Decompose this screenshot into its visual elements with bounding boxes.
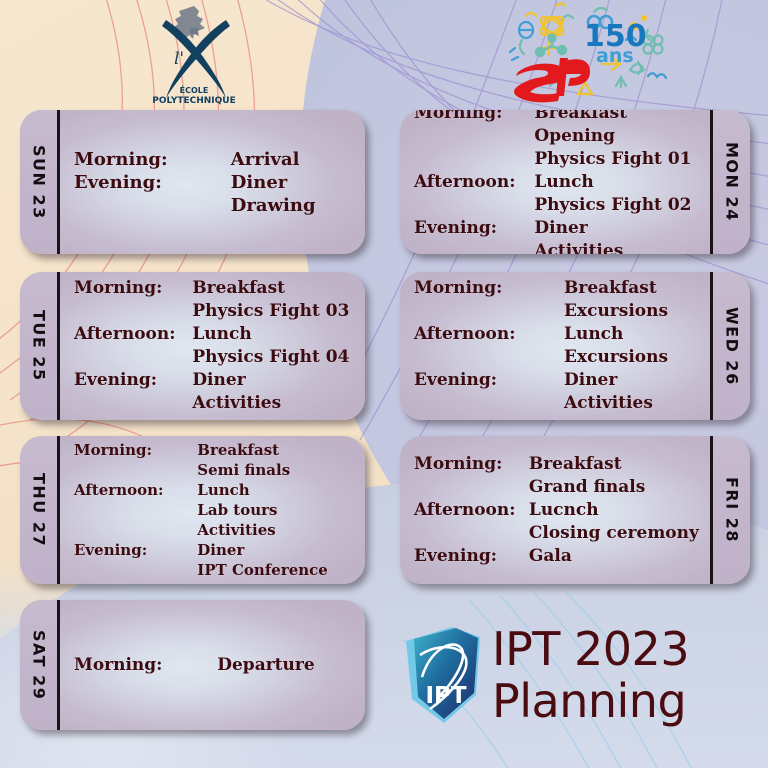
schedule-row: Morning:Breakfast [414,110,704,125]
day-card-body-fri-28: Morning:BreakfastGrand finalsAfternoon:L… [400,436,710,584]
day-card-sun-23[interactable]: SUN 23Morning:ArrivalEvening:DinerDrawin… [20,110,365,254]
day-tab-tue-25: TUE 25 [20,272,60,420]
schedule-activity-value: Lunch [197,480,359,500]
title-line-1: IPT 2023 [492,622,689,676]
schedule-row: Grand finals [414,476,704,499]
schedule-activity-value: Breakfast [529,453,704,476]
schedule-row: Physics Fight 04 [74,346,359,369]
schedule-row: Morning:Departure [74,654,359,677]
schedule-period-label [414,522,529,545]
day-card-body-sat-29: Morning:Departure [60,600,365,730]
schedule-activity-value: IPT Conference [197,560,359,580]
schedule-period-label: Morning: [414,453,529,476]
schedule-activity-value: Activities [192,392,359,415]
schedule-period-label: Afternoon: [74,323,192,346]
polytechnique-label: POLYTECHNIQUE [152,96,236,106]
schedule-row: Afternoon:Lunch [74,480,359,500]
schedule-period-label: Evening: [414,545,529,568]
schedule-row: Physics Fight 01 [414,148,704,171]
schedule-period-label: Afternoon: [414,171,534,194]
schedule-period-label [414,346,564,369]
schedule-row: Activities [414,240,704,255]
schedule-activity-value: Closing ceremony [529,522,704,545]
schedule-period-label: Morning: [414,110,534,125]
schedule-table: Morning:BreakfastGrand finalsAfternoon:L… [414,453,704,568]
schedule-activity-value: Drawing [231,194,359,217]
day-card-thu-27[interactable]: THU 27Morning:BreakfastSemi finalsAftern… [20,436,365,584]
schedule-period-label [74,194,231,217]
ipt-logo: IPT [400,625,486,725]
schedule-activity-value: Lunch [564,323,704,346]
day-tab-label: MON 24 [724,142,740,222]
schedule-period-label: Evening: [74,369,192,392]
schedule-activity-value: Excursions [564,300,704,323]
schedule-activity-value: Lucnch [529,499,704,522]
day-card-sat-29[interactable]: SAT 29Morning:Departure [20,600,365,730]
schedule-period-label [74,392,192,415]
day-card-fri-28[interactable]: FRI 28Morning:BreakfastGrand finalsAfter… [400,436,750,584]
schedule-row: Afternoon:Lunch [414,323,704,346]
schedule-row: Morning:Breakfast [414,277,704,300]
schedule-row: Afternoon:Lunch [74,323,359,346]
sfp-150-ans-logo: 150 ans [498,0,670,104]
day-tab-label: WED 26 [724,307,740,386]
schedule-table: Morning:BreakfastOpeningPhysics Fight 01… [414,110,704,254]
schedule-activity-value: Activities [564,392,704,415]
schedule-table: Morning:BreakfastExcursionsAfternoon:Lun… [414,277,704,415]
poster-title-block: IPT IPT 2023 Planning [400,600,760,750]
planning-poster: l' ÉCOLE POLYTECHNIQUE [0,0,768,768]
schedule-row: Drawing [74,194,359,217]
schedule-activity-value: Lunch [192,323,359,346]
schedule-row: Evening:Diner [74,171,359,194]
schedule-period-label [414,240,534,255]
day-card-tue-25[interactable]: TUE 25Morning:BreakfastPhysics Fight 03A… [20,272,365,420]
day-card-body-mon-24: Morning:BreakfastOpeningPhysics Fight 01… [400,110,710,254]
day-card-body-thu-27: Morning:BreakfastSemi finalsAfternoon:Lu… [60,436,365,584]
x-apostrophe-label: l' [174,49,184,69]
schedule-activity-value: Gala [529,545,704,568]
theta-doodle-icon [519,22,533,38]
schedule-table: Morning:Departure [74,654,359,677]
schedule-activity-value: Lunch [534,171,704,194]
schedule-row: Lab tours [74,500,359,520]
schedule-row: Excursions [414,300,704,323]
schedule-row: Physics Fight 02 [414,194,704,217]
schedule-row: Morning:Breakfast [414,453,704,476]
schedule-row: Morning:Arrival [74,148,359,171]
schedule-activity-value: Diner [231,171,359,194]
schedule-period-label [414,194,534,217]
schedule-table: Morning:BreakfastSemi finalsAfternoon:Lu… [74,440,359,580]
schedule-activity-value: Arrival [231,148,359,171]
schedule-period-label [414,476,529,499]
schedule-row: Evening:Diner [74,540,359,560]
schedule-table: Morning:BreakfastPhysics Fight 03Afterno… [74,277,359,415]
schedule-period-label [414,300,564,323]
schedule-row: Semi finals [74,460,359,480]
ecole-label: ÉCOLE [180,84,209,95]
schedule-row: IPT Conference [74,560,359,580]
ipt-logo-label: IPT [425,683,466,709]
schedule-row: Evening:Diner [74,369,359,392]
day-tab-label: TUE 25 [31,310,47,382]
sfp-ans-label: ans [596,45,634,67]
schedule-period-label [74,346,192,369]
schedule-activity-value: Activities [534,240,704,255]
schedule-activity-value: Excursions [564,346,704,369]
schedule-activity-value: Activities [197,520,359,540]
schedule-period-label [414,392,564,415]
schedule-activity-value: Semi finals [197,460,359,480]
day-tab-fri-28: FRI 28 [710,436,750,584]
schedule-activity-value: Diner [192,369,359,392]
schedule-activity-value: Departure [217,654,359,677]
schedule-activity-value: Physics Fight 02 [534,194,704,217]
schedule-row: Evening:Diner [414,369,704,392]
schedule-period-label: Morning: [74,654,217,677]
day-card-wed-26[interactable]: WED 26Morning:BreakfastExcursionsAfterno… [400,272,750,420]
schedule-activity-value: Breakfast [564,277,704,300]
day-tab-label: SUN 23 [31,145,47,220]
schedule-activity-value: Diner [534,217,704,240]
schedule-table: Morning:ArrivalEvening:DinerDrawing [74,148,359,217]
schedule-period-label: Morning: [74,440,197,460]
schedule-period-label [414,125,534,148]
schedule-period-label [74,500,197,520]
schedule-period-label [414,148,534,171]
schedule-activity-value: Opening [534,125,704,148]
schedule-period-label: Afternoon: [414,499,529,522]
schedule-period-label: Morning: [414,277,564,300]
schedule-activity-value: Diner [564,369,704,392]
sfp-monogram-icon [514,58,590,102]
schedule-period-label: Morning: [74,277,192,300]
schedule-row: Activities [74,520,359,540]
schedule-row: Afternoon:Lunch [414,171,704,194]
day-tab-thu-27: THU 27 [20,436,60,584]
schedule-period-label: Evening: [74,171,231,194]
ecole-polytechnique-logo: l' ÉCOLE POLYTECHNIQUE [138,2,250,110]
schedule-period-label: Morning: [74,148,231,171]
schedule-activity-value: Physics Fight 01 [534,148,704,171]
schedule-row: Physics Fight 03 [74,300,359,323]
schedule-row: Opening [414,125,704,148]
schedule-row: Evening:Diner [414,217,704,240]
schedule-activity-value: Diner [197,540,359,560]
day-tab-label: THU 27 [31,473,47,547]
schedule-period-label: Afternoon: [414,323,564,346]
schedule-period-label: Evening: [74,540,197,560]
schedule-activity-value: Physics Fight 04 [192,346,359,369]
molecule-doodle-icon [536,35,566,57]
day-card-body-tue-25: Morning:BreakfastPhysics Fight 03Afterno… [60,272,365,420]
schedule-period-label: Evening: [414,217,534,240]
schedule-row: Closing ceremony [414,522,704,545]
schedule-period-label: Evening: [414,369,564,392]
schedule-row: Activities [74,392,359,415]
schedule-row: Afternoon:Lucnch [414,499,704,522]
day-card-body-sun-23: Morning:ArrivalEvening:DinerDrawing [60,110,365,254]
schedule-row: Excursions [414,346,704,369]
schedule-activity-value: Physics Fight 03 [192,300,359,323]
schedule-activity-value: Breakfast [534,110,704,125]
title-line-2: Planning [492,675,689,727]
schedule-activity-value: Lab tours [197,500,359,520]
schedule-period-label [74,460,197,480]
schedule-row: Morning:Breakfast [74,440,359,460]
day-card-body-wed-26: Morning:BreakfastExcursionsAfternoon:Lun… [400,272,710,420]
schedule-activity-value: Breakfast [192,277,359,300]
schedule-row: Morning:Breakfast [74,277,359,300]
schedule-row: Evening:Gala [414,545,704,568]
schedule-activity-value: Breakfast [197,440,359,460]
day-tab-sun-23: SUN 23 [20,110,60,254]
day-tab-label: FRI 28 [724,477,740,543]
day-tab-sat-29: SAT 29 [20,600,60,730]
schedule-period-label [74,520,197,540]
schedule-period-label: Afternoon: [74,480,197,500]
day-tab-wed-26: WED 26 [710,272,750,420]
schedule-activity-value: Grand finals [529,476,704,499]
day-tab-label: SAT 29 [31,630,47,700]
day-tab-mon-24: MON 24 [710,110,750,254]
day-card-mon-24[interactable]: MON 24Morning:BreakfastOpeningPhysics Fi… [400,110,750,254]
schedule-period-label [74,560,197,580]
schedule-row: Activities [414,392,704,415]
schedule-period-label [74,300,192,323]
